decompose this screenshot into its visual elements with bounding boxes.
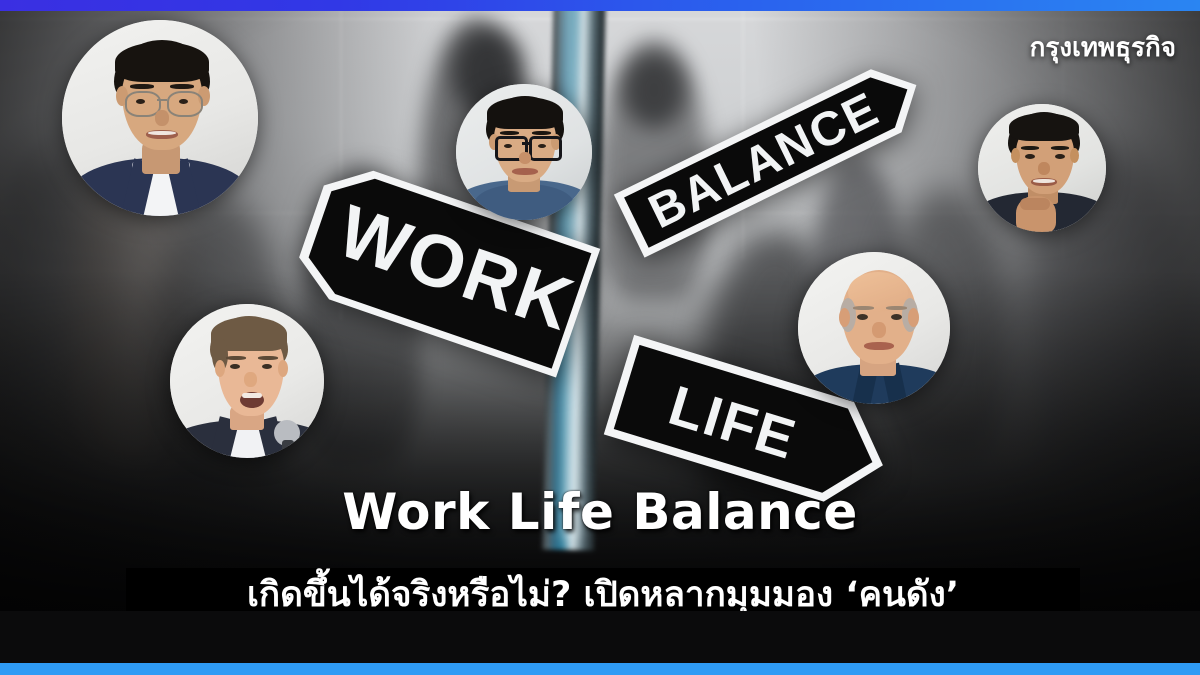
sign-balance-label: BALANCE bbox=[641, 83, 888, 240]
brand-logo-text: กรุงเทพธุรกิจ bbox=[1030, 27, 1176, 68]
portrait-2-photo bbox=[456, 84, 592, 220]
portrait-3-photo bbox=[978, 104, 1106, 232]
bottom-accent-bar bbox=[0, 663, 1200, 675]
portrait-5-photo bbox=[170, 304, 324, 458]
portrait-4-photo bbox=[798, 252, 950, 404]
portrait-bubble-1 bbox=[62, 20, 258, 216]
bottom-black-fill bbox=[0, 611, 1200, 663]
article-thumbnail: WORK BALANCE LIFE bbox=[0, 0, 1200, 675]
portrait-bubble-5 bbox=[170, 304, 324, 458]
headline-english: Work Life Balance bbox=[0, 487, 1200, 537]
portrait-bubble-2 bbox=[456, 84, 592, 220]
microphone-body bbox=[282, 440, 294, 458]
sign-balance: BALANCE bbox=[606, 36, 956, 286]
portrait-bubble-4 bbox=[798, 252, 950, 404]
top-accent-bar bbox=[0, 0, 1200, 11]
portrait-1-photo bbox=[62, 20, 258, 216]
portrait-bubble-3 bbox=[978, 104, 1106, 232]
